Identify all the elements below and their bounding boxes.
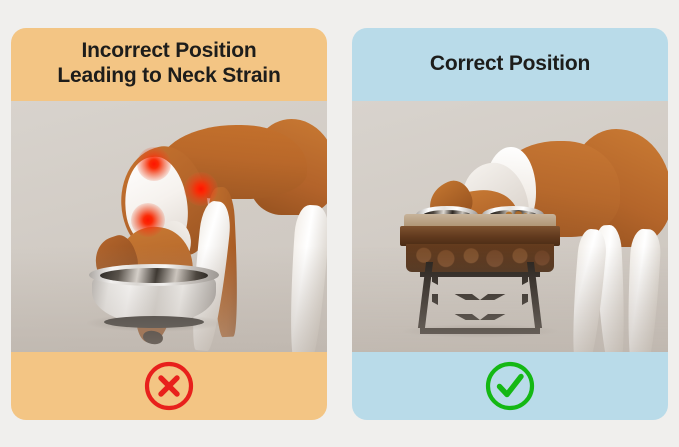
- card-correct-position: Correct Position: [352, 28, 668, 420]
- card-correct-footer: [352, 352, 668, 420]
- scene-floor-feeding: [11, 101, 327, 352]
- feeder-wood-slab: [400, 226, 560, 246]
- card-incorrect-title: Incorrect Position Leading to Neck Strai…: [57, 39, 280, 89]
- floor-gradient: [11, 246, 327, 351]
- cross-circle-icon: [142, 359, 196, 413]
- card-incorrect-footer: [11, 352, 327, 420]
- pain-point-icon-upper: [137, 147, 171, 181]
- card-incorrect-position: Incorrect Position Leading to Neck Strai…: [11, 28, 327, 420]
- card-incorrect-photo: [11, 101, 327, 352]
- floor-gradient: [352, 246, 668, 351]
- card-incorrect-title-line2: Leading to Neck Strain: [57, 64, 280, 87]
- pain-point-icon-lower: [131, 203, 165, 237]
- card-correct-title: Correct Position: [430, 52, 590, 77]
- pain-point-icon-shoulder: [184, 172, 218, 206]
- card-correct-header: Correct Position: [352, 28, 668, 101]
- check-circle-icon: [483, 359, 537, 413]
- scene-elevated-feeding: [352, 101, 668, 352]
- card-incorrect-title-line1: Incorrect Position: [82, 39, 257, 62]
- card-correct-photo: [352, 101, 668, 352]
- comparison-stage: Incorrect Position Leading to Neck Strai…: [0, 0, 679, 447]
- card-incorrect-header: Incorrect Position Leading to Neck Strai…: [11, 28, 327, 101]
